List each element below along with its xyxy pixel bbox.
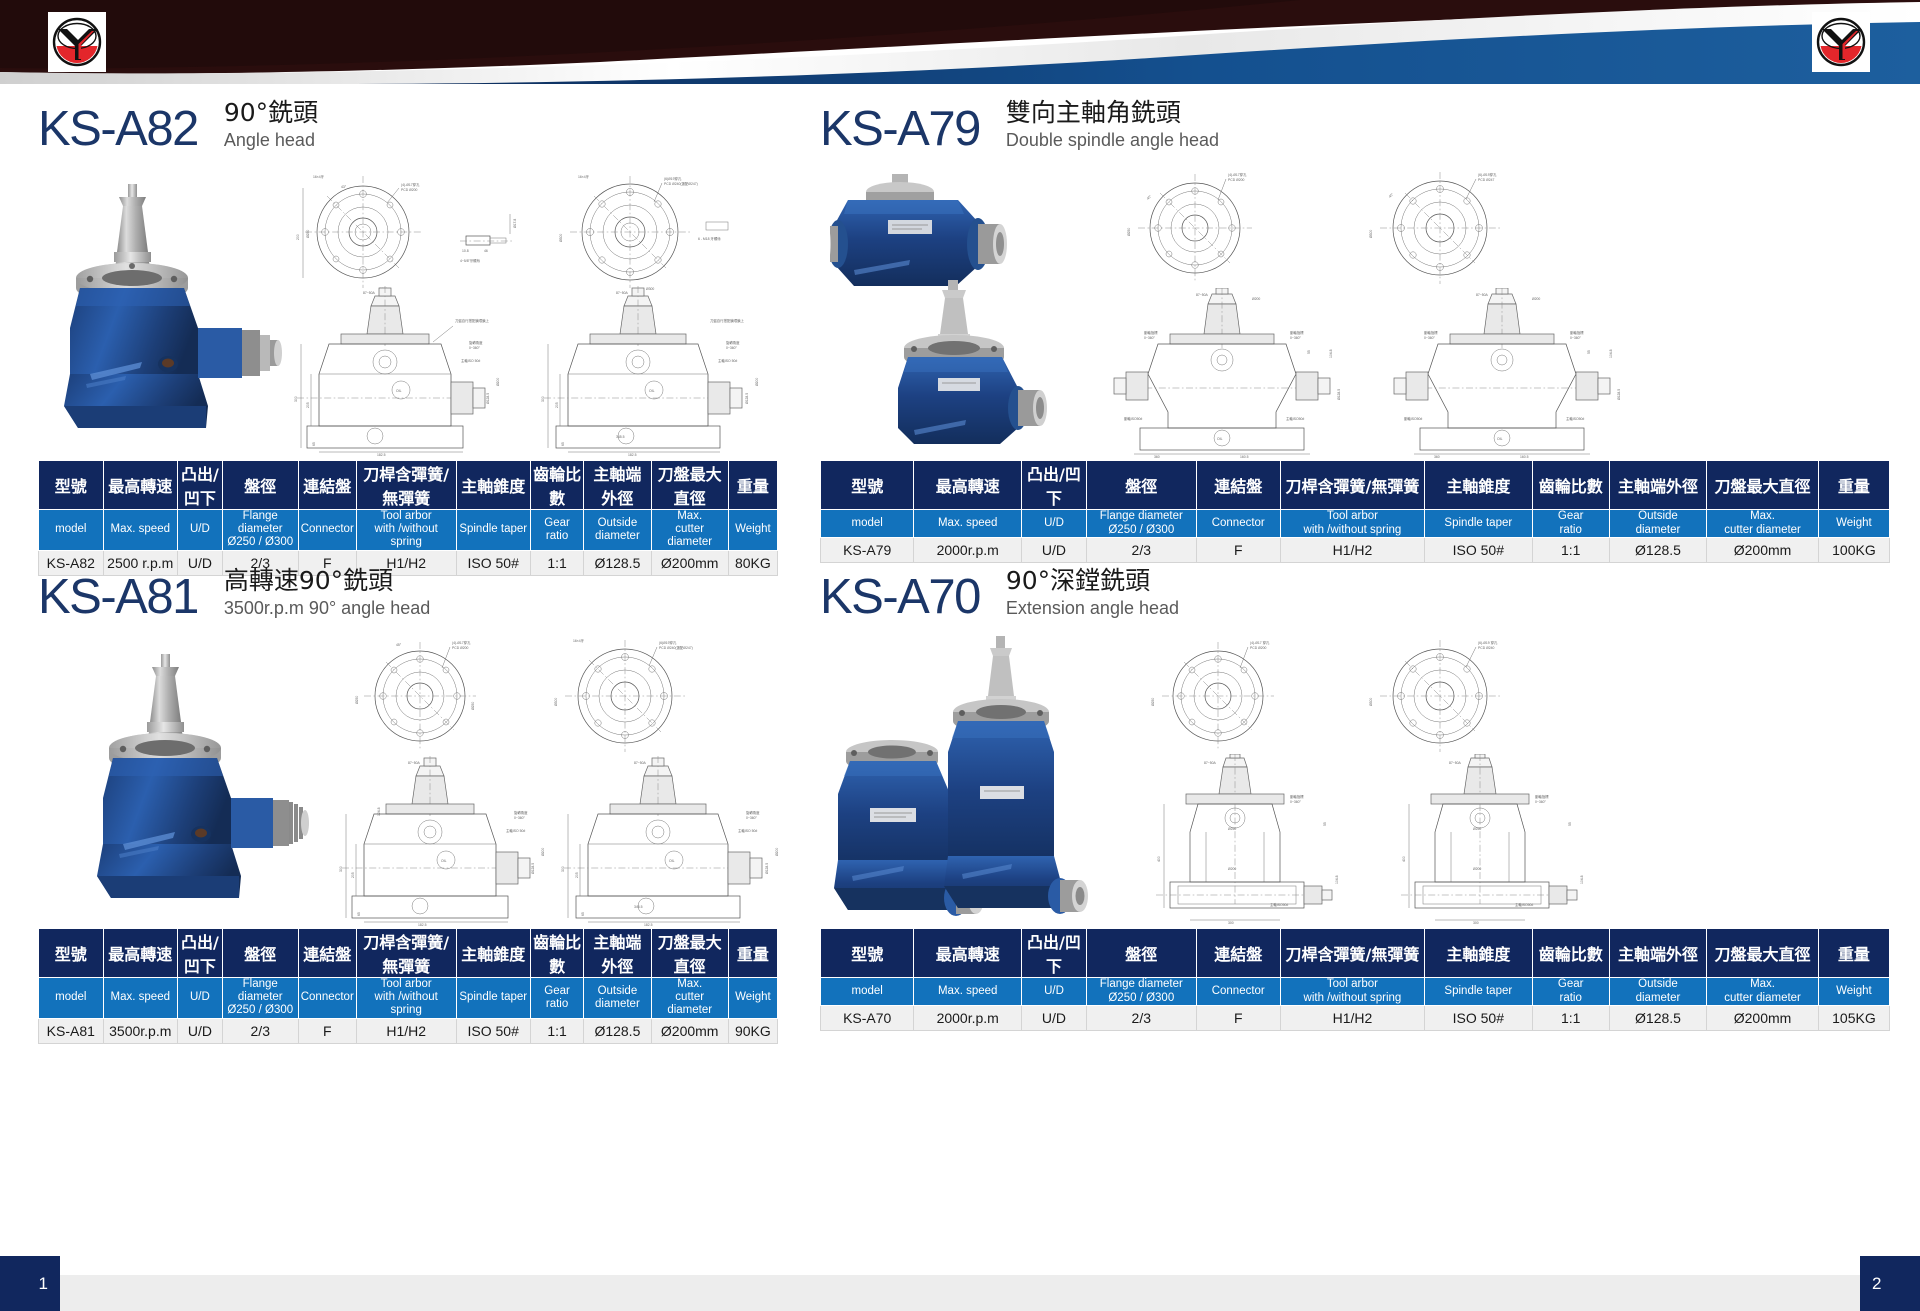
figure-area: (4)-Ø17穿孔 PCD Ø200 16×4牙 43° 200 Ø250 Ø2… xyxy=(38,160,778,460)
svg-text:205: 205 xyxy=(555,402,559,408)
th-en-ud: U/D xyxy=(177,978,222,1019)
svg-text:160.5: 160.5 xyxy=(1240,455,1249,458)
th-cn-arbor: 刀桿含彈簧/無彈簧 xyxy=(356,929,456,978)
svg-text:副軸ISO50#: 副軸ISO50# xyxy=(1404,416,1422,421)
figure-area: (4)-Ø17穿孔 PCD Ø200 45° Ø250 xyxy=(820,160,1890,460)
th-cn-connector: 連結盤 xyxy=(1196,461,1280,510)
svg-text:Ø250: Ø250 xyxy=(306,230,310,238)
th-cn-flange: 盤徑 xyxy=(222,929,298,978)
svg-text:Ø250: Ø250 xyxy=(1151,698,1155,706)
svg-text:400: 400 xyxy=(1157,856,1161,862)
svg-text:Ø300: Ø300 xyxy=(559,234,563,242)
th-en-ud: U/D xyxy=(177,510,222,551)
th-cn-ud: 凸出/凹下 xyxy=(177,929,222,978)
th-en-flange: Flange diameterØ250 / Ø300 xyxy=(222,978,298,1019)
th-cn-cutter: 刀盤最大直徑 xyxy=(651,929,728,978)
th-cn-arbor: 刀桿含彈簧/無彈簧 xyxy=(1280,461,1424,510)
svg-text:0~360°: 0~360° xyxy=(1424,336,1436,340)
svg-text:0~360°: 0~360° xyxy=(726,346,738,350)
product-photo-ks-a79-lower xyxy=(890,278,1095,458)
td-od: Ø128.5 xyxy=(1609,1006,1706,1031)
company-logo-icon xyxy=(51,15,103,69)
svg-text:16×4牙: 16×4牙 xyxy=(313,175,325,179)
svg-text:Ø200: Ø200 xyxy=(1532,297,1540,301)
svg-text:OIL: OIL xyxy=(441,859,447,863)
svg-text:65: 65 xyxy=(312,442,316,446)
svg-text:0~360°: 0~360° xyxy=(469,346,481,350)
svg-text:(4)-Ø17穿孔: (4)-Ø17穿孔 xyxy=(1228,172,1247,177)
drawing-rear-view-a81: (6)Ø19穿孔 PCD Ø240(選配Ø247) 16×4牙 Ø300 xyxy=(533,634,733,759)
th-cn-taper: 主軸錐度 xyxy=(456,461,530,510)
product-title-en: Extension angle head xyxy=(1006,597,1179,620)
product-title-row: KS-A82 90°銑頭 Angle head xyxy=(38,88,778,154)
drawing-rear-view-a70: (6)-Ø19 穿孔 PCD Ø240 Ø300 xyxy=(1350,634,1550,759)
svg-text:Ø200: Ø200 xyxy=(775,848,779,856)
svg-text:104.8: 104.8 xyxy=(1580,875,1584,884)
svg-text:10.8: 10.8 xyxy=(462,249,469,253)
svg-text:400: 400 xyxy=(1402,856,1406,862)
table-header-en: model Max. speed U/D Flange diameterØ250… xyxy=(39,510,778,551)
th-cn-gear: 齒輪比數 xyxy=(530,929,583,978)
th-cn-connector: 連結盤 xyxy=(298,929,356,978)
svg-text:Ø200: Ø200 xyxy=(1252,297,1260,301)
product-title-en: Double spindle angle head xyxy=(1006,129,1219,152)
drawing-front-view-a82: (4)-Ø17穿孔 PCD Ø200 16×4牙 43° 200 Ø250 Ø2… xyxy=(283,170,458,295)
th-en-od: Outsidediameter xyxy=(1609,978,1706,1006)
th-en-connector: Connector xyxy=(298,510,356,551)
th-en-taper: Spindle taper xyxy=(456,510,530,551)
th-cn-gear: 齒輪比數 xyxy=(1532,929,1609,978)
th-en-taper: Spindle taper xyxy=(1425,978,1533,1006)
svg-text:65: 65 xyxy=(581,912,585,916)
svg-text:0~360°: 0~360° xyxy=(746,816,758,820)
td-speed: 2000r.p.m xyxy=(914,1006,1022,1031)
drawing-front-view-a70: (4)-Ø17 穿孔 PCD Ø200 Ø250 xyxy=(1130,634,1320,759)
th-cn-speed: 最高轉速 xyxy=(914,461,1022,510)
th-cn-taper: 主軸錐度 xyxy=(1425,461,1533,510)
svg-text:Ø200: Ø200 xyxy=(1228,867,1236,871)
td-connector: F xyxy=(298,1018,356,1043)
svg-text:主軸ISO50#: 主軸ISO50# xyxy=(1566,416,1584,421)
td-connector: F xyxy=(1196,1006,1280,1031)
th-en-arbor: Tool arborwith /without spring xyxy=(1280,510,1424,538)
product-panel-ks-a70: KS-A70 90°深鏜銑頭 Extension angle head xyxy=(820,556,1890,1031)
svg-text:PCD Ø200: PCD Ø200 xyxy=(401,188,418,192)
svg-text:345.5: 345.5 xyxy=(616,435,625,439)
th-en-gear: Gearratio xyxy=(530,510,583,551)
th-cn-cutter: 刀盤最大直徑 xyxy=(1707,929,1819,978)
svg-text:PCD Ø247: PCD Ø247 xyxy=(1478,178,1495,182)
td-speed: 3500r.p.m xyxy=(103,1018,177,1043)
th-en-cutter: Max.cutter diameter xyxy=(1707,978,1819,1006)
svg-text:PCD Ø200: PCD Ø200 xyxy=(1250,646,1267,650)
th-en-flange: Flange diameterØ250 / Ø300 xyxy=(222,510,298,551)
th-en-ud: U/D xyxy=(1022,978,1087,1006)
svg-text:主軸ISO50#: 主軸ISO50# xyxy=(1515,902,1533,907)
svg-text:主軸ISO 50#: 主軸ISO 50# xyxy=(461,358,480,363)
th-cn-weight: 重量 xyxy=(728,461,777,510)
product-title-row: KS-A70 90°深鏜銑頭 Extension angle head xyxy=(820,556,1890,622)
th-cn-ud: 凸出/凹下 xyxy=(1022,929,1087,978)
svg-text:(6)-Ø19 穿孔: (6)-Ø19 穿孔 xyxy=(1478,640,1498,645)
td-arbor: H1/H2 xyxy=(356,1018,456,1043)
figure-area: (4)-Ø17 穿孔 PCD Ø200 Ø250 xyxy=(820,628,1890,928)
th-en-gear: Gearratio xyxy=(1532,510,1609,538)
svg-text:45°: 45° xyxy=(396,643,402,647)
svg-text:360: 360 xyxy=(1154,455,1160,458)
svg-text:104.8: 104.8 xyxy=(1609,349,1613,358)
svg-text:Ø250: Ø250 xyxy=(355,696,359,704)
th-cn-model: 型號 xyxy=(39,461,104,510)
svg-text:主軸ISO50#: 主軸ISO50# xyxy=(1286,416,1304,421)
th-en-weight: Weight xyxy=(1818,510,1889,538)
table-header-cn: 型號 最高轉速 凸出/凹下 盤徑 連結盤 刀桿含彈簧/無彈簧 主軸錐度 齒輪比數… xyxy=(39,461,778,510)
svg-text:300: 300 xyxy=(294,396,298,402)
th-en-gear: Gearratio xyxy=(530,978,583,1019)
svg-text:16×4牙: 16×4牙 xyxy=(573,639,585,643)
th-en-connector: Connector xyxy=(1196,510,1280,538)
product-title-cn: 雙向主軸角銑頭 xyxy=(1006,99,1219,128)
svg-text:87~50A: 87~50A xyxy=(1196,293,1209,297)
svg-text:104.8: 104.8 xyxy=(1329,349,1333,358)
th-en-speed: Max. speed xyxy=(914,510,1022,538)
svg-text:Ø250: Ø250 xyxy=(1473,827,1481,831)
th-en-od: Outsidediameter xyxy=(584,510,651,551)
th-cn-flange: 盤徑 xyxy=(1086,461,1196,510)
spec-table-ks-a81: 型號 最高轉速 凸出/凹下 盤徑 連結盤 刀桿含彈簧/無彈簧 主軸錐度 齒輪比數… xyxy=(38,928,778,1044)
th-en-speed: Max. speed xyxy=(914,978,1022,1006)
th-cn-arbor: 刀桿含彈簧/無彈簧 xyxy=(1280,929,1424,978)
svg-text:87~50A: 87~50A xyxy=(634,761,647,765)
th-cn-model: 型號 xyxy=(821,929,914,978)
th-en-cutter: Max.cutter diameter xyxy=(1707,510,1819,538)
td-gear: 1:1 xyxy=(530,1018,583,1043)
svg-text:43°: 43° xyxy=(341,185,347,189)
th-cn-od: 主軸端外徑 xyxy=(1609,929,1706,978)
th-cn-flange: 盤徑 xyxy=(1086,929,1196,978)
svg-text:副軸指標: 副軸指標 xyxy=(1290,330,1304,335)
svg-text:87~50A: 87~50A xyxy=(408,761,421,765)
svg-text:PCD Ø240(選配Ø247): PCD Ø240(選配Ø247) xyxy=(664,181,698,186)
product-title-cn: 90°銑頭 xyxy=(224,99,318,128)
svg-text:(4)-Ø17穿孔: (4)-Ø17穿孔 xyxy=(452,640,471,645)
svg-text:Ø200: Ø200 xyxy=(755,378,759,386)
th-en-arbor: Tool arborwith /without spring xyxy=(1280,978,1424,1006)
svg-text:Ø128.5: Ø128.5 xyxy=(1337,389,1341,400)
drawing-section-left-a70: 87~50A 副軸指標 0~360° xyxy=(1120,754,1365,926)
drawing-rear-view-a82: (6)Ø19穿孔 PCD Ø240(選配Ø247) 16×4牙 Ø300 Ø30… xyxy=(538,170,738,295)
td-ud: U/D xyxy=(1022,1006,1087,1031)
svg-text:300: 300 xyxy=(1473,921,1479,925)
table-header-en: model Max. speed U/D Flange diameterØ250… xyxy=(39,978,778,1019)
product-title-row: KS-A81 高轉速90°銑頭 3500r.p.m 90° angle head xyxy=(38,556,778,622)
svg-text:旋轉角度: 旋轉角度 xyxy=(746,810,760,815)
drawing-section-right-a81: 87~50A OIL 300 205 xyxy=(548,756,798,926)
svg-text:副軸ISO50#: 副軸ISO50# xyxy=(1124,416,1142,421)
product-panel-ks-a79: KS-A79 雙向主軸角銑頭 Double spindle angle head xyxy=(820,88,1890,563)
th-en-gear: Gearratio xyxy=(1532,978,1609,1006)
svg-text:0~360°: 0~360° xyxy=(514,816,526,820)
svg-text:Ø200: Ø200 xyxy=(496,378,500,386)
th-cn-cutter: 刀盤最大直徑 xyxy=(651,461,728,510)
th-cn-model: 型號 xyxy=(821,461,914,510)
th-cn-ud: 凸出/凹下 xyxy=(1022,461,1087,510)
svg-text:主軸ISO 50#: 主軸ISO 50# xyxy=(506,828,525,833)
product-model-code: KS-A70 xyxy=(820,573,980,622)
svg-text:0~360°: 0~360° xyxy=(1570,336,1582,340)
svg-text:87~50A: 87~50A xyxy=(1449,761,1462,765)
svg-text:主軸ISO50#: 主軸ISO50# xyxy=(1270,902,1288,907)
svg-text:0~360°: 0~360° xyxy=(1144,336,1156,340)
spec-table-ks-a70: 型號 最高轉速 凸出/凹下 盤徑 連結盤 刀桿含彈簧/無彈簧 主軸錐度 齒輪比數… xyxy=(820,928,1890,1031)
th-en-taper: Spindle taper xyxy=(1425,510,1533,538)
th-cn-weight: 重量 xyxy=(1818,461,1889,510)
table-row: KS-A70 2000r.p.m U/D 2/3 F H1/H2 ISO 50#… xyxy=(821,1006,1890,1031)
th-cn-flange: 盤徑 xyxy=(222,461,298,510)
svg-text:Ø128.5: Ø128.5 xyxy=(1617,389,1621,400)
svg-text:300: 300 xyxy=(1228,921,1234,925)
svg-text:(6)Ø19穿孔: (6)Ø19穿孔 xyxy=(659,640,677,645)
td-weight: 90KG xyxy=(728,1018,777,1043)
svg-text:Ø250: Ø250 xyxy=(471,702,475,710)
svg-text:旋轉角度: 旋轉角度 xyxy=(726,340,740,345)
th-en-model: model xyxy=(39,510,104,551)
svg-text:Ø200: Ø200 xyxy=(1473,867,1481,871)
th-cn-speed: 最高轉速 xyxy=(914,929,1022,978)
product-photo-ks-a81 xyxy=(83,648,313,918)
svg-text:(6)Ø19穿孔: (6)Ø19穿孔 xyxy=(664,176,682,181)
svg-text:104.8: 104.8 xyxy=(1335,875,1339,884)
th-cn-ud: 凸出/凹下 xyxy=(177,461,222,510)
svg-text:182.5: 182.5 xyxy=(418,923,427,926)
th-cn-od: 主軸端外徑 xyxy=(1609,461,1706,510)
th-cn-connector: 連結盤 xyxy=(1196,929,1280,978)
th-en-taper: Spindle taper xyxy=(456,978,530,1019)
th-en-weight: Weight xyxy=(1818,978,1889,1006)
svg-text:Ø300: Ø300 xyxy=(554,698,558,706)
svg-text:Ø250: Ø250 xyxy=(1127,228,1131,236)
td-gear: 1:1 xyxy=(1532,1006,1609,1031)
th-en-model: model xyxy=(39,978,104,1019)
svg-text:300: 300 xyxy=(339,866,343,872)
svg-text:副軸指標: 副軸指標 xyxy=(1570,330,1584,335)
svg-text:205: 205 xyxy=(351,872,355,878)
th-cn-speed: 最高轉速 xyxy=(103,461,177,510)
td-flange: 2/3 xyxy=(1086,1006,1196,1031)
svg-text:0~360°: 0~360° xyxy=(1290,800,1302,804)
svg-text:87~50A: 87~50A xyxy=(363,291,376,295)
spec-table-ks-a79: 型號 最高轉速 凸出/凹下 盤徑 連結盤 刀桿含彈簧/無彈簧 主軸錐度 齒輪比數… xyxy=(820,460,1890,563)
catalog-page: KS-A82 90°銑頭 Angle head xyxy=(0,0,1920,1311)
td-cutter: Ø200mm xyxy=(651,1018,728,1043)
td-taper: ISO 50# xyxy=(456,1018,530,1043)
th-cn-taper: 主軸錐度 xyxy=(1425,929,1533,978)
svg-text:45°: 45° xyxy=(1388,192,1395,199)
product-title-en: 3500r.p.m 90° angle head xyxy=(224,597,430,620)
svg-text:OIL: OIL xyxy=(396,389,402,393)
th-en-weight: Weight xyxy=(728,510,777,551)
th-en-connector: Connector xyxy=(1196,978,1280,1006)
header-banner xyxy=(0,0,1920,86)
svg-text:刀盤自行搭配鎖環鎖上: 刀盤自行搭配鎖環鎖上 xyxy=(710,318,745,323)
product-title-cn: 高轉速90°銑頭 xyxy=(224,567,430,596)
page-number-left: 1 xyxy=(0,1256,60,1311)
svg-text:205: 205 xyxy=(306,402,310,408)
product-panel-ks-a81: KS-A81 高轉速90°銑頭 3500r.p.m 90° angle head xyxy=(38,556,778,1044)
td-model: KS-A70 xyxy=(821,1006,914,1031)
product-title-en: Angle head xyxy=(224,129,318,152)
th-cn-model: 型號 xyxy=(39,929,104,978)
svg-text:主軸ISO 50#: 主軸ISO 50# xyxy=(718,358,737,363)
svg-text:160.5: 160.5 xyxy=(1520,455,1529,458)
svg-text:PCD Ø240: PCD Ø240 xyxy=(1478,646,1495,650)
svg-text:87~50A: 87~50A xyxy=(1204,761,1217,765)
svg-text:360: 360 xyxy=(1434,455,1440,458)
svg-text:旋轉角度: 旋轉角度 xyxy=(514,810,528,815)
svg-text:Ø128.5: Ø128.5 xyxy=(745,393,749,404)
th-en-ud: U/D xyxy=(1022,510,1087,538)
svg-text:OIL: OIL xyxy=(669,859,675,863)
svg-text:55: 55 xyxy=(1307,350,1311,354)
svg-text:PCD Ø200: PCD Ø200 xyxy=(1228,178,1245,182)
svg-text:Ø128.5: Ø128.5 xyxy=(486,393,490,404)
th-cn-od: 主軸端外徑 xyxy=(584,461,651,510)
drawing-section-right-a70: 87~50A 副軸指標 0~360° Ø250 Ø200 xyxy=(1365,754,1610,926)
th-cn-speed: 最高轉速 xyxy=(103,929,177,978)
svg-text:45°: 45° xyxy=(1146,194,1153,201)
svg-text:205: 205 xyxy=(575,872,579,878)
th-en-model: model xyxy=(821,510,914,538)
product-model-code: KS-A79 xyxy=(820,105,980,154)
table-header-en: model Max. speed U/D Flange diameterØ250… xyxy=(821,978,1890,1006)
th-en-model: model xyxy=(821,978,914,1006)
product-photo-ks-a70-right xyxy=(938,634,1123,924)
drawing-section-right-a82: 87~50A OIL 300 205 xyxy=(528,286,778,456)
product-panel-ks-a82: KS-A82 90°銑頭 Angle head xyxy=(38,88,778,576)
svg-text:345.5: 345.5 xyxy=(634,905,643,909)
drawing-screw-detail-a82: 10.8 46 4~5/8"牙螺絲 Ø17.8 xyxy=(458,200,528,285)
th-cn-od: 主軸端外徑 xyxy=(584,929,651,978)
svg-text:16×4牙: 16×4牙 xyxy=(578,175,590,179)
svg-text:124.8: 124.8 xyxy=(377,807,381,816)
page-number-right: 2 xyxy=(1860,1256,1920,1311)
svg-text:Ø128.5: Ø128.5 xyxy=(765,863,769,874)
svg-text:(6)-Ø19穿孔: (6)-Ø19穿孔 xyxy=(1478,172,1497,177)
th-en-cutter: Max.cutter diameter xyxy=(651,978,728,1019)
product-model-code: KS-A81 xyxy=(38,573,198,622)
svg-text:Ø250: Ø250 xyxy=(1228,827,1236,831)
svg-text:Ø300: Ø300 xyxy=(1369,230,1373,238)
svg-text:OIL: OIL xyxy=(649,389,655,393)
svg-text:65: 65 xyxy=(357,912,361,916)
svg-text:(4)-Ø17穿孔: (4)-Ø17穿孔 xyxy=(401,182,420,187)
svg-text:主軸ISO 50#: 主軸ISO 50# xyxy=(738,828,757,833)
svg-text:副軸指標: 副軸指標 xyxy=(1144,330,1158,335)
svg-text:PCD Ø200: PCD Ø200 xyxy=(452,646,469,650)
svg-text:55: 55 xyxy=(1568,822,1572,826)
td-cutter: Ø200mm xyxy=(1707,1006,1819,1031)
th-en-od: Outsidediameter xyxy=(584,978,651,1019)
drawing-rear-view-a79: (6)-Ø19穿孔 PCD Ø247 45° Ø300 xyxy=(1350,166,1550,291)
th-en-flange: Flange diameterØ250 / Ø300 xyxy=(1086,510,1196,538)
svg-text:(4)-Ø17 穿孔: (4)-Ø17 穿孔 xyxy=(1250,640,1270,645)
th-en-connector: Connector xyxy=(298,978,356,1019)
td-flange: 2/3 xyxy=(222,1018,298,1043)
svg-text:OIL: OIL xyxy=(1497,437,1503,441)
th-cn-connector: 連結盤 xyxy=(298,461,356,510)
page-footer: 1 2 xyxy=(0,1256,1920,1311)
th-en-arbor: Tool arborwith /without spring xyxy=(356,978,456,1019)
td-weight: 105KG xyxy=(1818,1006,1889,1031)
svg-text:55: 55 xyxy=(1587,350,1591,354)
drawing-section-left-a79: 87~50A Ø200 OIL xyxy=(1100,288,1355,458)
company-logo-icon xyxy=(1815,15,1867,69)
product-photo-ks-a82 xyxy=(56,178,286,448)
drawing-section-left-a81: 87~50A OIL 300 205 xyxy=(328,756,558,926)
svg-text:6 - M18 牙螺絲: 6 - M18 牙螺絲 xyxy=(698,236,721,241)
svg-text:55: 55 xyxy=(1323,822,1327,826)
drawing-section-left-a82: 87~50A OIL xyxy=(283,286,513,456)
svg-text:46: 46 xyxy=(484,249,488,253)
svg-text:副軸指標: 副軸指標 xyxy=(1424,330,1438,335)
svg-text:87~50A: 87~50A xyxy=(1476,293,1489,297)
th-cn-arbor: 刀桿含彈簧/無彈簧 xyxy=(356,461,456,510)
td-ud: U/D xyxy=(177,1018,222,1043)
svg-text:Ø200: Ø200 xyxy=(541,848,545,856)
th-cn-gear: 齒輪比數 xyxy=(530,461,583,510)
th-en-flange: Flange diameterØ250 / Ø300 xyxy=(1086,978,1196,1006)
th-en-weight: Weight xyxy=(728,978,777,1019)
company-logo-left xyxy=(48,12,106,72)
th-en-cutter: Max.cutter diameter xyxy=(651,510,728,551)
svg-text:副軸指標: 副軸指標 xyxy=(1535,794,1549,799)
th-en-arbor: Tool arborwith /without spring xyxy=(356,510,456,551)
svg-text:Ø128.5: Ø128.5 xyxy=(531,863,535,874)
drawing-front-view-a81: (4)-Ø17穿孔 PCD Ø200 45° Ø250 Ø250 xyxy=(338,634,518,759)
svg-text:Ø300: Ø300 xyxy=(1369,698,1373,706)
td-arbor: H1/H2 xyxy=(1280,1006,1424,1031)
svg-text:OIL: OIL xyxy=(1217,437,1223,441)
figure-area: (4)-Ø17穿孔 PCD Ø200 45° Ø250 Ø250 xyxy=(38,628,778,928)
td-model: KS-A81 xyxy=(39,1018,104,1043)
svg-text:300: 300 xyxy=(541,396,545,402)
svg-text:PCD Ø240(選配Ø247): PCD Ø240(選配Ø247) xyxy=(659,645,693,650)
table-header-en: model Max. speed U/D Flange diameterØ250… xyxy=(821,510,1890,538)
svg-text:300: 300 xyxy=(561,866,565,872)
td-taper: ISO 50# xyxy=(1425,1006,1533,1031)
svg-text:4~5/8"牙螺絲: 4~5/8"牙螺絲 xyxy=(460,258,481,263)
svg-text:65: 65 xyxy=(561,442,565,446)
footer-bar xyxy=(0,1275,1920,1311)
th-cn-weight: 重量 xyxy=(728,929,777,978)
table-header-cn: 型號 最高轉速 凸出/凹下 盤徑 連結盤 刀桿含彈簧/無彈簧 主軸錐度 齒輪比數… xyxy=(821,929,1890,978)
th-en-speed: Max. speed xyxy=(103,510,177,551)
company-logo-right xyxy=(1812,12,1870,72)
td-od: Ø128.5 xyxy=(584,1018,651,1043)
svg-text:0~360°: 0~360° xyxy=(1535,800,1547,804)
table-header-cn: 型號 最高轉速 凸出/凹下 盤徑 連結盤 刀桿含彈簧/無彈簧 主軸錐度 齒輪比數… xyxy=(821,461,1890,510)
product-title-cn: 90°深鏜銑頭 xyxy=(1006,567,1179,596)
svg-text:刀盤自行搭配鎖環鎖上: 刀盤自行搭配鎖環鎖上 xyxy=(455,318,490,323)
svg-text:182.5: 182.5 xyxy=(644,923,653,926)
svg-text:200: 200 xyxy=(296,234,300,240)
svg-text:87~50A: 87~50A xyxy=(616,291,629,295)
th-en-od: Outsidediameter xyxy=(1609,510,1706,538)
table-header-cn: 型號 最高轉速 凸出/凹下 盤徑 連結盤 刀桿含彈簧/無彈簧 主軸錐度 齒輪比數… xyxy=(39,929,778,978)
svg-text:182.5: 182.5 xyxy=(628,453,637,456)
th-cn-taper: 主軸錐度 xyxy=(456,929,530,978)
table-row: KS-A81 3500r.p.m U/D 2/3 F H1/H2 ISO 50#… xyxy=(39,1018,778,1043)
